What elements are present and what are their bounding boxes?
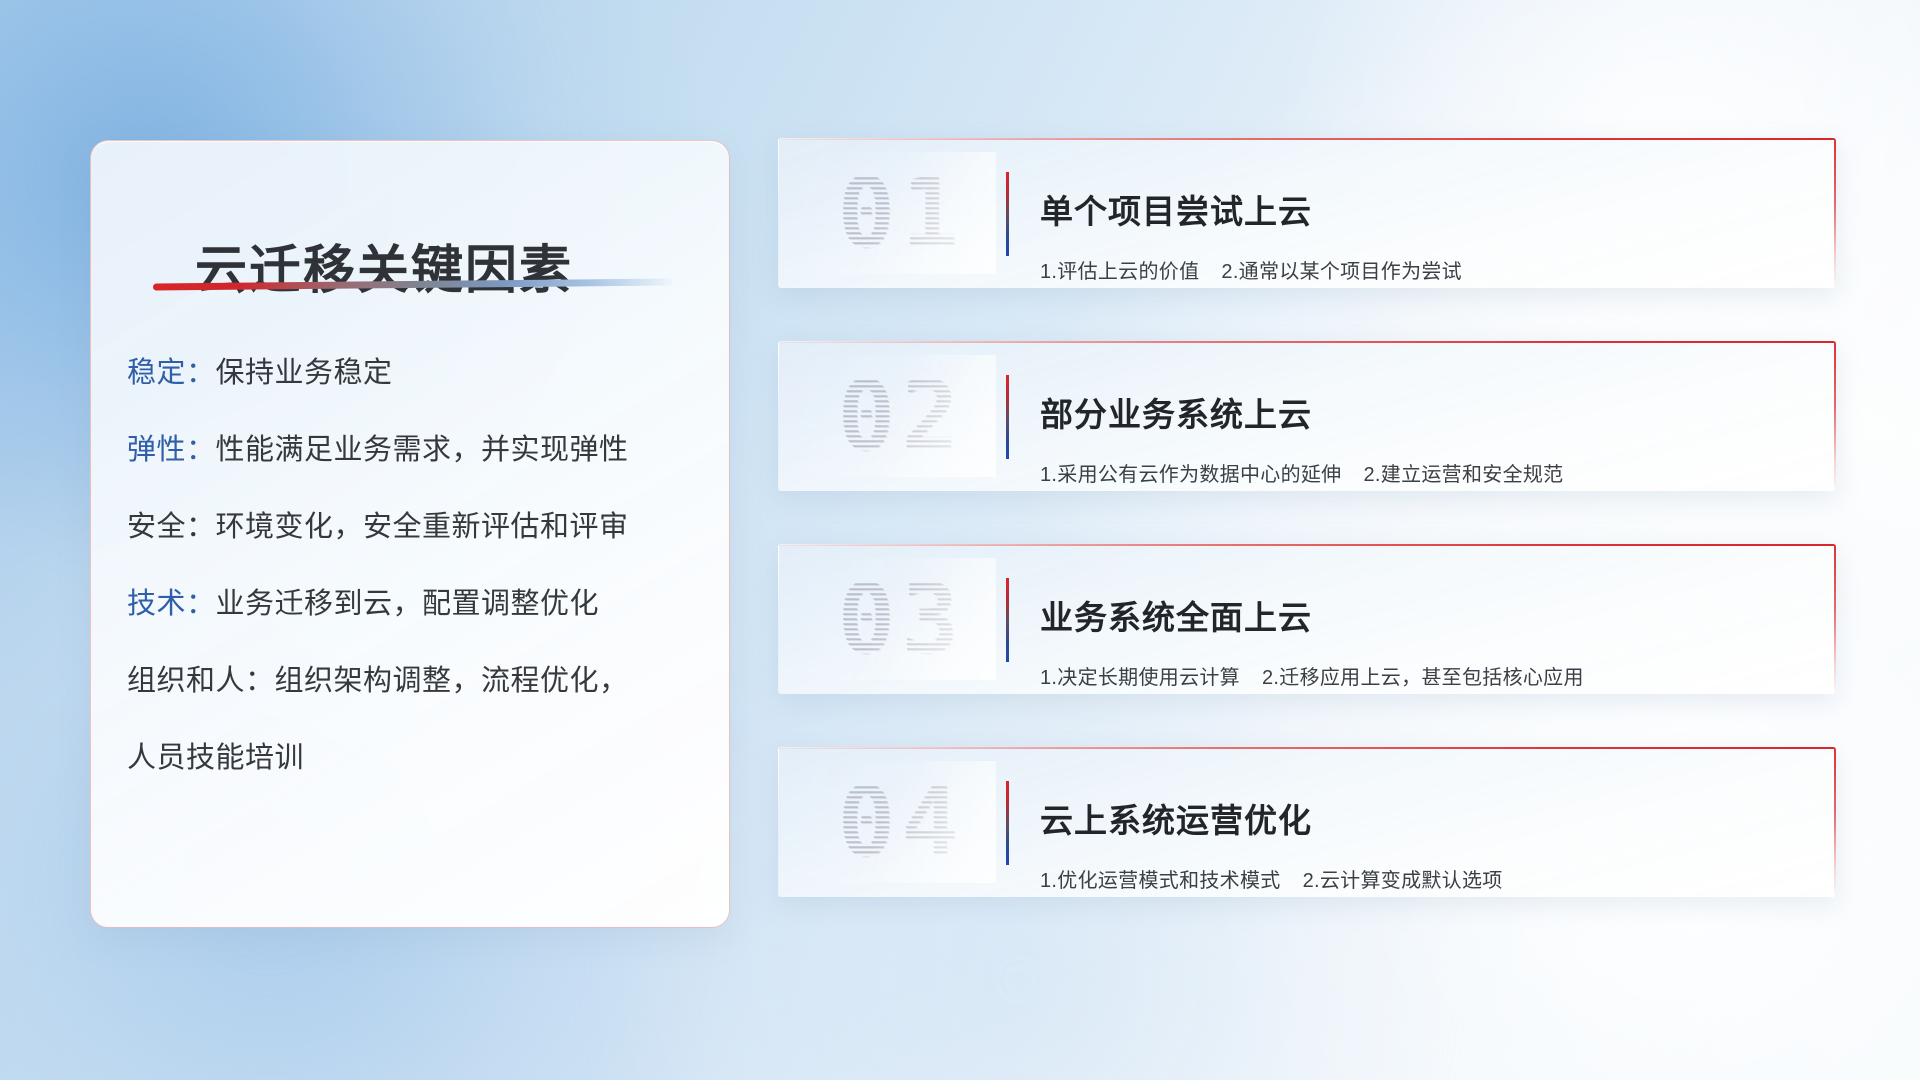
card-top-accent — [778, 138, 1836, 140]
stage-number: 03 — [806, 558, 996, 680]
stage-card-01[interactable]: 01 01 单个项目尝试上云 1.评估上云的价值2.通常以某个项目作为尝试 — [778, 138, 1836, 288]
key-factors-panel: 云迁移关键因素 稳定：保持业务稳定 弹性：性能满足业务需求，并实现弹性 安全：环… — [90, 140, 730, 928]
stage-divider-bar — [1006, 781, 1009, 865]
stage-text-block: 部分业务系统上云 1.采用公有云作为数据中心的延伸2.建立运营和安全规范 — [1040, 369, 1810, 491]
stage-point-1: 1.采用公有云作为数据中心的延伸 — [1040, 464, 1341, 486]
card-top-accent — [778, 544, 1836, 546]
factor-value: 业务迁移到云，配置调整优化 — [216, 588, 600, 620]
slide-canvas: 云迁移关键因素 稳定：保持业务稳定 弹性：性能满足业务需求，并实现弹性 安全：环… — [0, 0, 1920, 1080]
factor-value: 环境变化，安全重新评估和评审 — [216, 511, 629, 543]
stage-card-04[interactable]: 04 04 云上系统运营优化 1.优化运营模式和技术模式2.云计算变成默认选项 — [778, 747, 1836, 897]
card-left-edge — [778, 341, 779, 491]
stage-point-2: 2.建立运营和安全规范 — [1363, 464, 1563, 486]
factor-value: 性能满足业务需求，并实现弹性 — [216, 434, 629, 466]
stage-divider-bar — [1006, 375, 1009, 459]
stage-point-2: 2.云计算变成默认选项 — [1303, 870, 1503, 892]
card-right-accent — [1834, 341, 1836, 491]
stage-description: 1.决定长期使用云计算2.迁移应用上云，甚至包括核心应用 — [1040, 666, 1810, 690]
stage-divider-bar — [1006, 172, 1009, 256]
stage-number-graphic: 02 02 — [806, 355, 996, 477]
stage-description: 1.采用公有云作为数据中心的延伸2.建立运营和安全规范 — [1040, 463, 1810, 487]
stage-number-graphic: 01 01 — [806, 152, 996, 274]
card-left-edge — [778, 138, 779, 288]
stage-card-03[interactable]: 03 03 业务系统全面上云 1.决定长期使用云计算2.迁移应用上云，甚至包括核… — [778, 544, 1836, 694]
stage-number: 04 — [806, 761, 996, 883]
migration-stage-list: 01 01 单个项目尝试上云 1.评估上云的价值2.通常以某个项目作为尝试 02… — [778, 138, 1836, 897]
stage-point-2: 2.通常以某个项目作为尝试 — [1221, 261, 1462, 283]
stage-number-graphic: 04 04 — [806, 761, 996, 883]
factor-value: 保持业务稳定 — [216, 357, 393, 389]
stage-number: 02 — [806, 355, 996, 477]
stage-point-1: 1.决定长期使用云计算 — [1040, 667, 1240, 689]
card-top-accent — [778, 747, 1836, 749]
stage-point-1: 1.评估上云的价值 — [1040, 261, 1199, 283]
card-right-accent — [1834, 138, 1836, 288]
factor-row-organization-continuation: 人员技能培训 — [127, 744, 705, 773]
stage-number: 01 — [806, 152, 996, 274]
card-right-accent — [1834, 747, 1836, 897]
factor-row-organization: 组织和人：组织架构调整，流程优化， — [127, 667, 705, 696]
stage-text-block: 云上系统运营优化 1.优化运营模式和技术模式2.云计算变成默认选项 — [1040, 775, 1810, 897]
stage-text-block: 业务系统全面上云 1.决定长期使用云计算2.迁移应用上云，甚至包括核心应用 — [1040, 572, 1810, 694]
factor-row-stability: 稳定：保持业务稳定 — [127, 359, 705, 388]
card-right-accent — [1834, 544, 1836, 694]
stage-point-2: 2.迁移应用上云，甚至包括核心应用 — [1262, 667, 1584, 689]
card-left-edge — [778, 747, 779, 897]
card-left-edge — [778, 544, 779, 694]
factor-row-elasticity: 弹性：性能满足业务需求，并实现弹性 — [127, 436, 705, 465]
stage-number-graphic: 03 03 — [806, 558, 996, 680]
factor-list: 稳定：保持业务稳定 弹性：性能满足业务需求，并实现弹性 安全：环境变化，安全重新… — [127, 359, 705, 773]
factor-label: 弹性： — [127, 434, 216, 466]
factor-row-security: 安全：环境变化，安全重新评估和评审 — [127, 513, 705, 542]
stage-divider-bar — [1006, 578, 1009, 662]
stage-title: 云上系统运营优化 — [1040, 802, 1810, 841]
factor-label: 安全： — [127, 511, 216, 543]
page-title: 云迁移关键因素 — [195, 228, 573, 303]
stage-title: 单个项目尝试上云 — [1040, 193, 1810, 232]
factor-value: 组织架构调整，流程优化， — [275, 665, 629, 697]
factor-row-technology: 技术：业务迁移到云，配置调整优化 — [127, 590, 705, 619]
factor-label: 技术： — [127, 588, 216, 620]
stage-text-block: 单个项目尝试上云 1.评估上云的价值2.通常以某个项目作为尝试 — [1040, 166, 1810, 288]
factor-label: 组织和人： — [127, 665, 275, 697]
card-top-accent — [778, 341, 1836, 343]
stage-point-1: 1.优化运营模式和技术模式 — [1040, 870, 1281, 892]
factor-label: 稳定： — [127, 357, 216, 389]
stage-description: 1.优化运营模式和技术模式2.云计算变成默认选项 — [1040, 869, 1810, 893]
stage-card-02[interactable]: 02 02 部分业务系统上云 1.采用公有云作为数据中心的延伸2.建立运营和安全… — [778, 341, 1836, 491]
stage-title: 业务系统全面上云 — [1040, 599, 1810, 638]
stage-description: 1.评估上云的价值2.通常以某个项目作为尝试 — [1040, 260, 1810, 284]
stage-title: 部分业务系统上云 — [1040, 396, 1810, 435]
